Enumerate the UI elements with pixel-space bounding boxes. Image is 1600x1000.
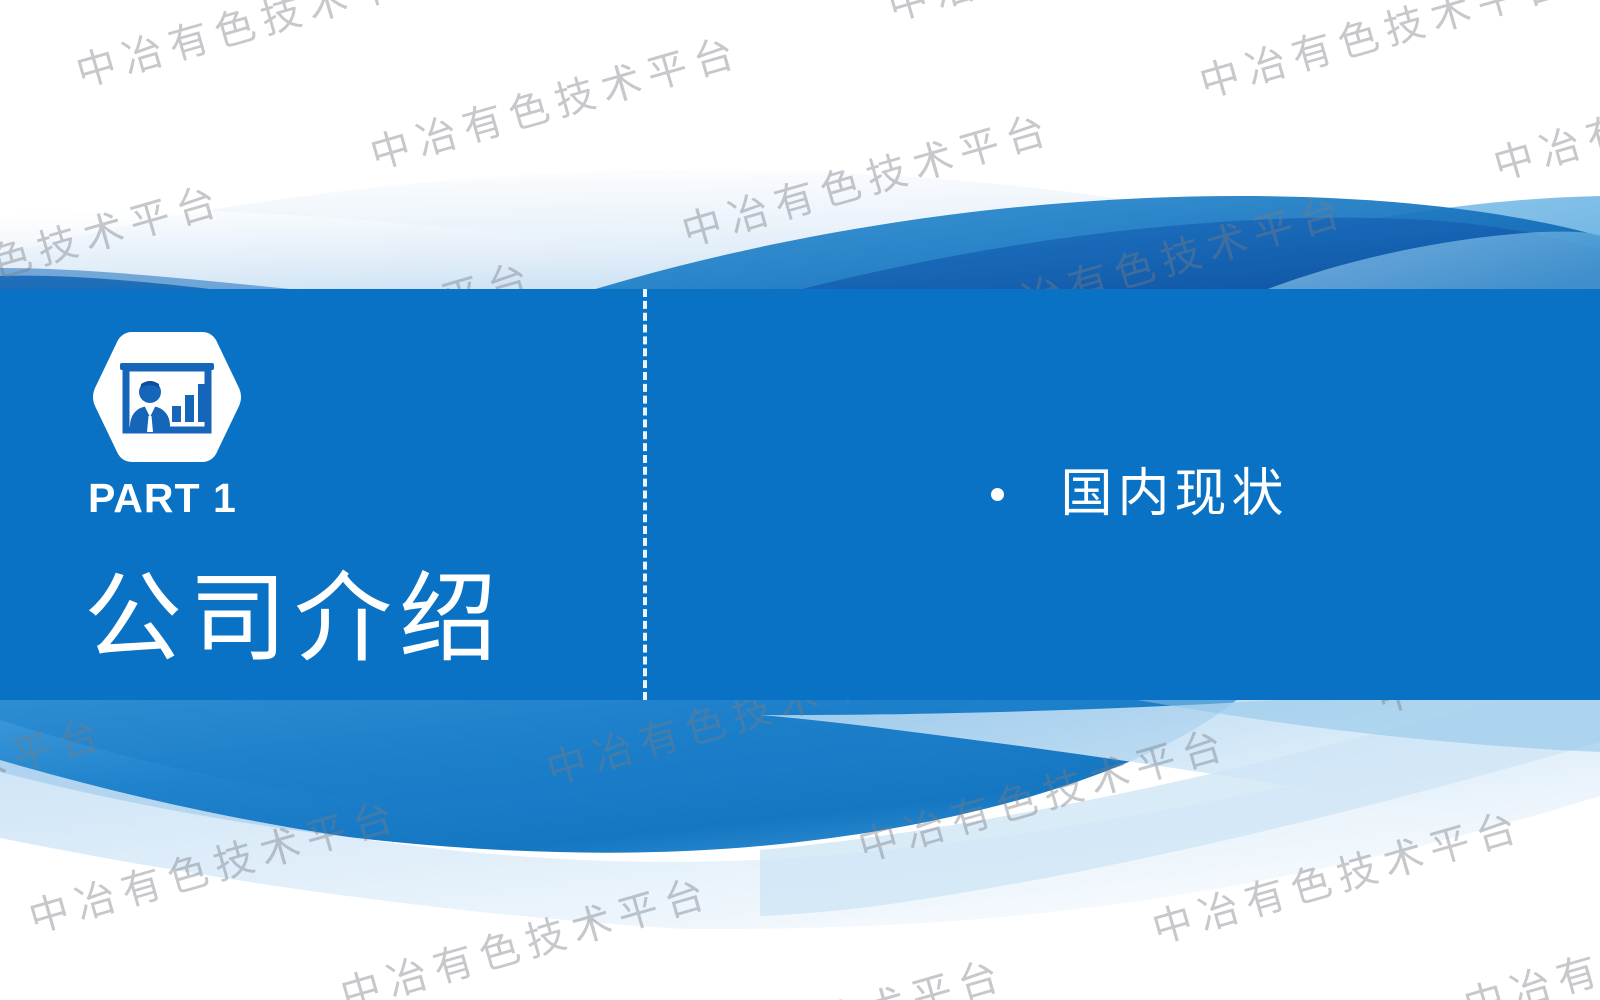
- band-divider: [643, 289, 647, 700]
- part-block: PART 1 公司介绍: [82, 322, 552, 670]
- bullet-list: 国内现状: [700, 289, 1580, 700]
- presentation-chart-icon: [92, 322, 242, 472]
- list-item[interactable]: 国内现状: [991, 466, 1288, 523]
- list-item-label: 国内现状: [1060, 466, 1288, 523]
- slide-canvas: 中冶有色技术平台 中冶有色技术平台 中冶有色技术平台 中冶有色技术平台 中冶有色…: [0, 0, 1600, 1000]
- page-title: 公司介绍: [84, 567, 552, 670]
- bullet-dot-icon: [991, 488, 1004, 501]
- part-label: PART 1: [88, 478, 552, 519]
